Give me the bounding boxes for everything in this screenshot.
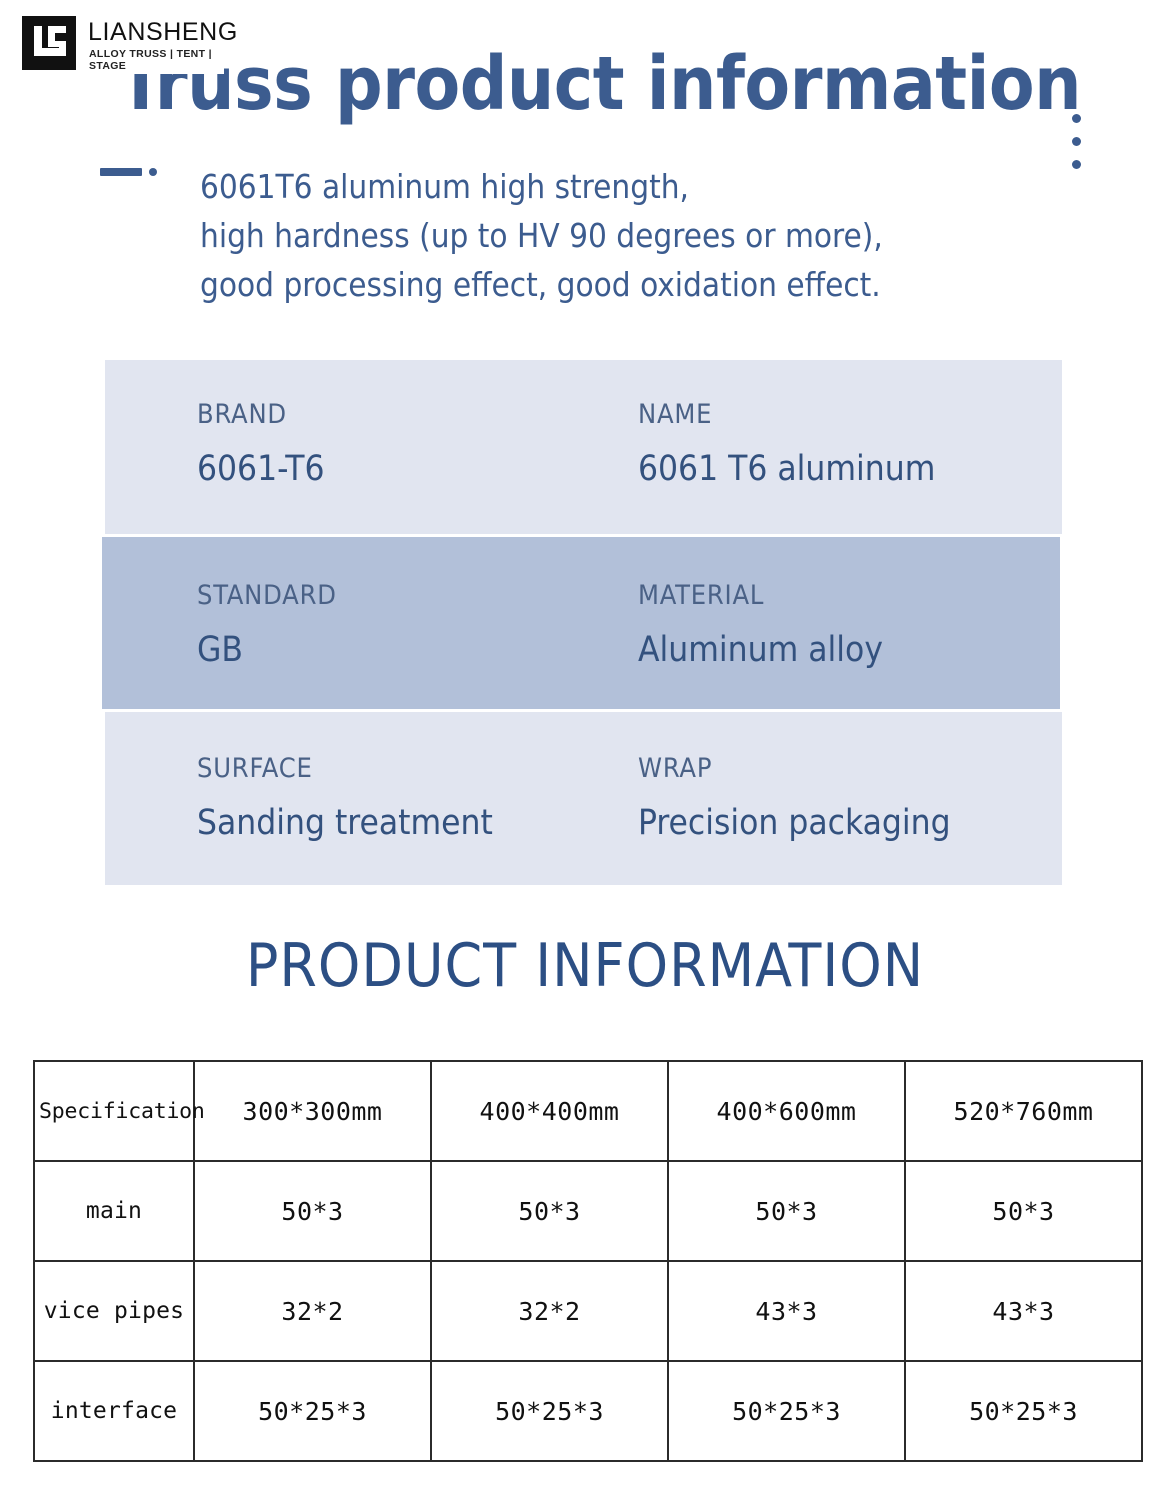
table-cell: 50*25*3	[194, 1361, 431, 1461]
product-table-wrapper: Specification 300*300mm 400*400mm 400*60…	[33, 1060, 1143, 1462]
table-cell: 32*2	[431, 1261, 668, 1361]
dash-dot-bullet-icon	[100, 164, 172, 180]
table-cell: 50*25*3	[668, 1361, 905, 1461]
ls-monogram-icon	[22, 16, 76, 70]
table-cell: 50*3	[905, 1161, 1142, 1261]
spec-cell-name: NAME 6061 T6 aluminum	[575, 398, 1062, 534]
table-cell: 50*3	[668, 1161, 905, 1261]
spec-value: Aluminum alloy	[638, 629, 1059, 671]
spec-row: SURFACE Sanding treatment WRAP Precision…	[105, 712, 1062, 885]
brand-tagline: ALLOY TRUSS | TENT | STAGE	[89, 48, 224, 72]
table-row: vice pipes 32*2 32*2 43*3 43*3	[34, 1261, 1142, 1361]
table-cell: 32*2	[194, 1261, 431, 1361]
spec-value: 6061-T6	[197, 448, 575, 490]
table-row: main 50*3 50*3 50*3 50*3	[34, 1161, 1142, 1261]
table-row-label: vice pipes	[34, 1261, 194, 1361]
table-header-cell: 300*300mm	[194, 1061, 431, 1161]
table-header-cell: 400*600mm	[668, 1061, 905, 1161]
table-cell: 43*3	[905, 1261, 1142, 1361]
product-specification-table: Specification 300*300mm 400*400mm 400*60…	[33, 1060, 1143, 1462]
brand-name: LIANSHENG	[88, 19, 238, 45]
table-row-label: main	[34, 1161, 194, 1261]
spec-panel: BRAND 6061-T6 NAME 6061 T6 aluminum STAN…	[105, 360, 1062, 885]
spec-key: WRAP	[638, 752, 1062, 786]
table-row: interface 50*25*3 50*25*3 50*25*3 50*25*…	[34, 1361, 1142, 1461]
spec-key: SURFACE	[197, 752, 575, 786]
table-header-row: Specification 300*300mm 400*400mm 400*60…	[34, 1061, 1142, 1161]
spec-cell-standard: STANDARD GB	[102, 579, 572, 709]
spec-value: GB	[197, 629, 572, 671]
table-cell: 50*3	[194, 1161, 431, 1261]
table-cell: 50*25*3	[431, 1361, 668, 1461]
page-canvas: Truss product information LIANSHENG ALLO…	[0, 0, 1170, 1509]
spec-value: 6061 T6 aluminum	[638, 448, 1062, 490]
table-cell: 50*25*3	[905, 1361, 1142, 1461]
spec-row: STANDARD GB MATERIAL Aluminum alloy	[102, 537, 1060, 709]
spec-cell-surface: SURFACE Sanding treatment	[105, 752, 575, 885]
table-cell: 43*3	[668, 1261, 905, 1361]
table-header-cell: 400*400mm	[431, 1061, 668, 1161]
table-header-cell: 520*760mm	[905, 1061, 1142, 1161]
page-title: Truss product information	[118, 44, 1081, 124]
spec-value: Sanding treatment	[197, 802, 575, 844]
spec-key: NAME	[638, 398, 1062, 432]
spec-row: BRAND 6061-T6 NAME 6061 T6 aluminum	[105, 360, 1062, 534]
spec-cell-brand: BRAND 6061-T6	[105, 398, 575, 534]
spec-cell-material: MATERIAL Aluminum alloy	[572, 579, 1059, 709]
section-heading: PRODUCT INFORMATION	[0, 930, 1170, 1002]
intro-description: 6061T6 aluminum high strength, high hard…	[200, 162, 1080, 309]
spec-key: MATERIAL	[638, 579, 1059, 613]
brand-logo: LIANSHENG ALLOY TRUSS | TENT | STAGE	[0, 0, 224, 74]
table-header-cell: Specification	[34, 1061, 194, 1161]
decoration-dot	[1072, 114, 1081, 123]
spec-key: STANDARD	[197, 579, 572, 613]
table-row-label: interface	[34, 1361, 194, 1461]
table-cell: 50*3	[431, 1161, 668, 1261]
spec-cell-wrap: WRAP Precision packaging	[575, 752, 1062, 885]
spec-key: BRAND	[197, 398, 575, 432]
decoration-dot	[1072, 137, 1081, 146]
spec-value: Precision packaging	[638, 802, 1062, 844]
